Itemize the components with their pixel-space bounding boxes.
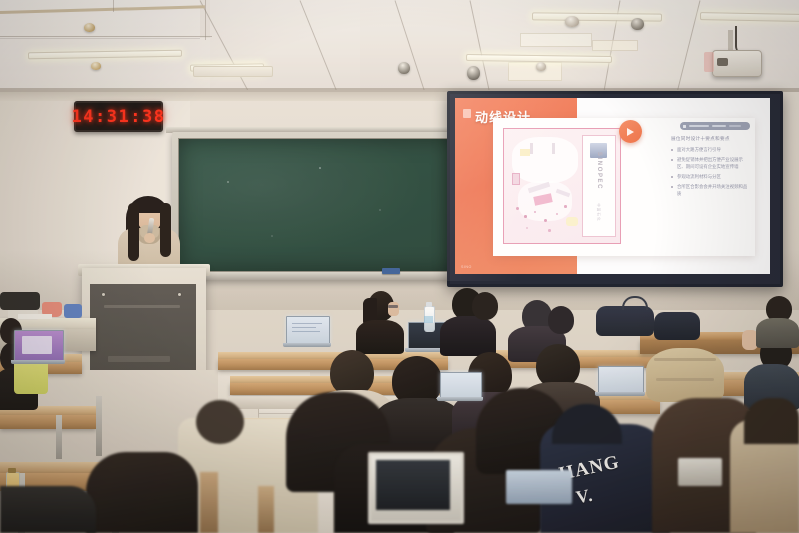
foreground-student <box>86 452 198 533</box>
jacket-seam <box>656 378 714 381</box>
laptop-base <box>11 360 65 364</box>
bottle-label <box>424 316 433 323</box>
digital-wall-clock: 14:31:38 <box>74 101 163 132</box>
slide-content-card: SINOPEC 中国石化 展位同时设计十要点和要点 面对大路方便言行引导 避免促… <box>493 118 755 256</box>
presenter-hair-left <box>128 203 139 261</box>
panel-marking <box>108 356 170 362</box>
laptop-screen <box>598 366 644 394</box>
slide-footer: SINO <box>461 265 472 269</box>
ceiling-tile-lit <box>520 33 592 47</box>
lecture-hall-photo: 14:31:38 动线设计 SINO <box>0 0 799 533</box>
foreground-head <box>196 400 244 444</box>
projector-side-panel <box>704 52 714 72</box>
dome-speaker <box>84 23 95 32</box>
bottle-cap <box>426 302 432 307</box>
pill-bar <box>729 125 741 127</box>
bench <box>0 415 96 429</box>
slide-heading: 展位同时设计十要点和要点 <box>671 136 749 142</box>
wall-trim <box>0 92 460 101</box>
blackboard <box>178 138 456 272</box>
varsity-text-line2: V. <box>574 485 595 509</box>
bottle-cap <box>8 468 16 473</box>
eyeglasses-icon <box>388 305 398 308</box>
panel-screw <box>102 293 105 296</box>
ceiling-tile <box>210 0 360 97</box>
foreground-head <box>744 398 799 444</box>
slide-toolbar-pill <box>680 122 750 130</box>
bench-back <box>258 486 274 533</box>
laptop-display <box>376 460 450 510</box>
blue-container <box>64 304 82 318</box>
projector-lens <box>717 58 728 66</box>
projector-mount <box>728 30 733 52</box>
slide-bullet: 避免促销体并把出方便产业设展示区、期间可设有企业实地宣传墙 <box>671 156 749 171</box>
presentation-slide: 动线设计 SINO <box>455 98 770 274</box>
play-triangle-icon <box>627 128 634 136</box>
sinopec-sign-panel: SINOPEC 中国石化 <box>582 135 616 237</box>
notebook <box>22 336 52 354</box>
sinopec-sign-subtext: 中国石化 <box>597 203 602 221</box>
ceiling <box>0 0 799 96</box>
presenter-hand <box>144 233 155 243</box>
floor-plan-diagram: SINOPEC 中国石化 <box>503 128 621 244</box>
student-head <box>472 292 498 320</box>
dome-speaker <box>467 66 480 80</box>
tote-bag <box>596 306 654 336</box>
panel-marking <box>104 305 180 308</box>
slide-bullet: 面对大路方便言行引导 <box>671 146 749 153</box>
backpack <box>654 312 700 340</box>
papers <box>18 314 52 319</box>
ceiling-tile <box>360 0 480 97</box>
laptop-base <box>283 343 331 347</box>
slide-title-marker-icon <box>463 109 471 118</box>
dome-speaker <box>398 62 410 74</box>
panel-screw <box>178 293 181 296</box>
sinopec-sign-text: SINOPEC <box>596 152 602 190</box>
laptop-base <box>595 392 645 396</box>
bench-leg <box>96 396 102 456</box>
laptop-screen <box>440 372 482 399</box>
clock-time-display: 14:31:38 <box>72 107 166 127</box>
laptop-screen <box>506 470 572 504</box>
dome-speaker <box>631 18 644 30</box>
ceiling-seam <box>0 36 212 37</box>
dome-speaker <box>565 16 579 27</box>
pill-bar <box>689 125 709 127</box>
ceiling-tile-lit <box>508 62 562 81</box>
pill-square-icon <box>683 125 686 128</box>
beige-puffer-jacket <box>646 348 724 402</box>
fluorescent-tube-light <box>193 66 273 77</box>
blackboard-ledge <box>172 272 460 280</box>
slide-bullet: 参观动流利材料与分区 <box>671 173 749 180</box>
student-torso <box>756 318 799 348</box>
ceiling-seam <box>113 0 114 12</box>
pill-bar <box>712 125 726 127</box>
ceiling-seam <box>205 0 206 40</box>
bench-back <box>200 472 218 533</box>
slide-text-column: 展位同时设计十要点和要点 面对大路方便言行引导 避免促销体并把出方便产业设展示区… <box>671 136 749 200</box>
dome-speaker <box>536 62 546 71</box>
paper-sheet <box>678 458 722 486</box>
slide-bullet-list: 面对大路方便言行引导 避免促销体并把出方便产业设展示区、期间可设有企业实地宣传墙… <box>671 146 749 197</box>
student-head <box>548 306 574 334</box>
dark-equipment <box>0 292 40 310</box>
ceiling-tile-lit <box>592 40 638 51</box>
jacket-seam <box>654 358 716 361</box>
laptop-base <box>437 397 483 401</box>
chalk-eraser <box>382 268 400 274</box>
slide-bullet: 合所区合影会会并开场关注视频和品质 <box>671 183 749 198</box>
bench-leg <box>56 415 62 459</box>
student-torso <box>356 320 404 354</box>
student-torso <box>440 316 496 356</box>
presenter-hair-right <box>160 203 171 257</box>
laptop-screen <box>286 316 330 345</box>
dome-speaker <box>91 62 101 70</box>
foreground-student <box>0 486 96 533</box>
